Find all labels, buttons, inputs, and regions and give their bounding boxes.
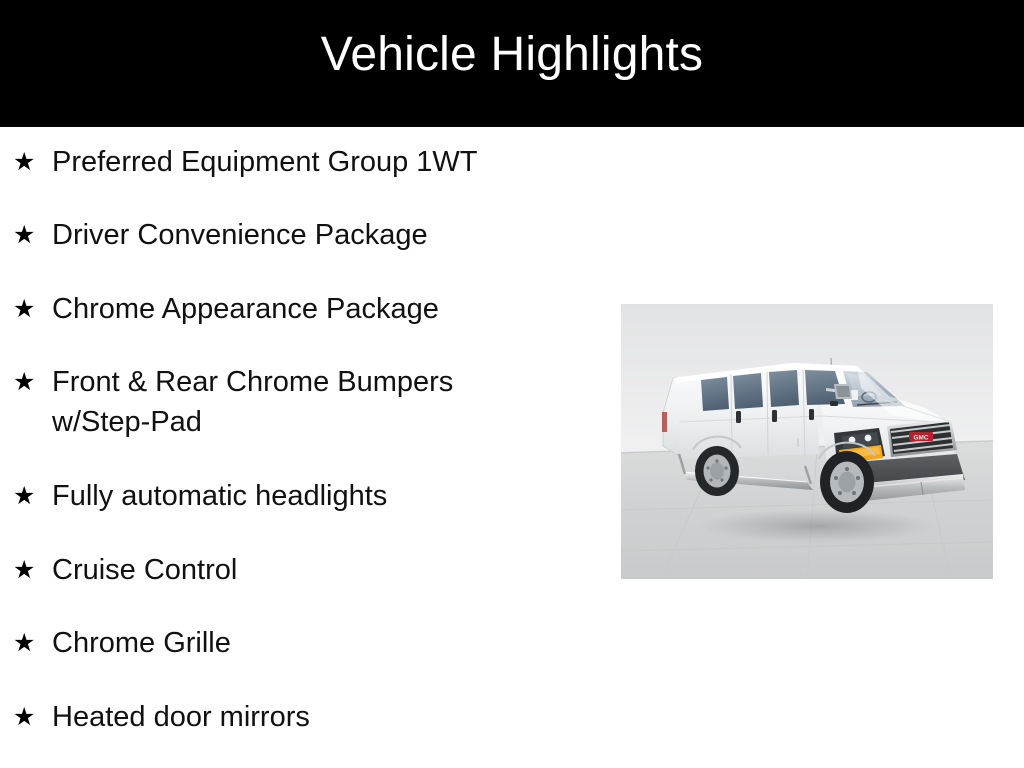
page-title: Vehicle Highlights [0,26,1024,84]
star-bullet-icon: ★ [13,215,52,255]
list-item-label: Heated door mirrors [52,697,573,737]
star-bullet-icon: ★ [13,142,52,182]
star-bullet-icon: ★ [13,362,52,402]
list-item: ★ Heated door mirrors [13,697,573,737]
list-item-label: Preferred Equipment Group 1WT [52,142,573,182]
star-bullet-icon: ★ [13,550,52,590]
star-bullet-icon: ★ [13,623,52,663]
gmc-badge-text: GMC [914,434,929,441]
star-bullet-icon: ★ [13,289,52,329]
list-item: ★ Chrome Appearance Package [13,289,573,329]
list-item: ★ Front & Rear Chrome Bumpers w/Step-Pad [13,362,573,442]
vehicle-photo: GMC [621,304,993,579]
list-item-label: Chrome Appearance Package [52,289,573,329]
title-banner: Vehicle Highlights [0,0,1024,127]
list-item: ★ Cruise Control [13,550,573,590]
list-item-label: Fully automatic headlights [52,476,573,516]
list-item-label: Front & Rear Chrome Bumpers w/Step-Pad [52,362,573,442]
front-wheel-icon [820,451,874,513]
star-bullet-icon: ★ [13,697,52,737]
list-item-label: Chrome Grille [52,623,573,663]
list-item: ★ Chrome Grille [13,623,573,663]
list-item: ★ Fully automatic headlights [13,476,573,516]
list-item-label: Cruise Control [52,550,573,590]
rear-wheel-icon [695,446,739,496]
star-bullet-icon: ★ [13,476,52,516]
list-item: ★ Preferred Equipment Group 1WT [13,142,573,182]
list-item: ★ Driver Convenience Package [13,215,573,255]
list-item-label: Driver Convenience Package [52,215,573,255]
vehicle-photo-image: GMC [621,304,993,579]
